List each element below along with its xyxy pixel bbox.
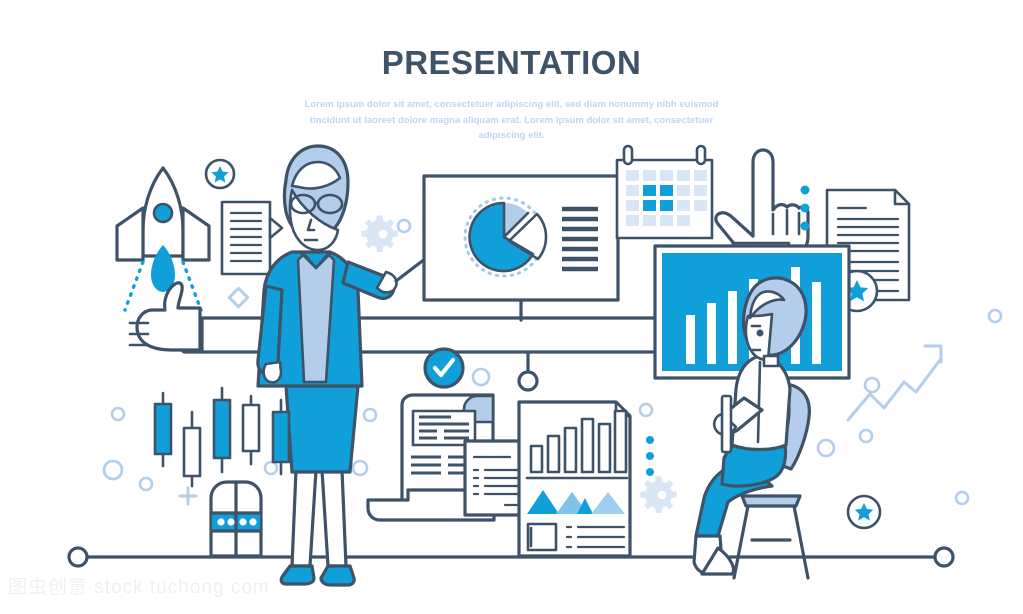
growth-arrow-icon	[848, 346, 941, 420]
rocket-icon	[117, 168, 209, 310]
timeline-bar	[69, 548, 953, 566]
star-badge-bottom-right	[848, 496, 880, 528]
pointing-hand-icon	[716, 150, 810, 260]
candlestick-chart	[155, 388, 289, 486]
server-cabinet-icon	[211, 482, 261, 556]
document-icon-left	[222, 202, 282, 274]
watermark: 图虫创意 stock.tuchong.com	[8, 572, 270, 599]
calendar-icon	[617, 146, 712, 238]
star-badge-top-left	[206, 160, 234, 188]
presentation-board-pie-chart	[424, 176, 618, 320]
checkmark-badge	[425, 349, 463, 387]
dot-list-right	[646, 436, 654, 476]
scene-illustration: .ln{fill:none;stroke:#3e5268;stroke-widt…	[0, 0, 1023, 614]
watermark-en: stock.tuchong.com	[94, 577, 269, 598]
stool	[734, 496, 808, 578]
document-chart-sheet	[519, 402, 630, 556]
watermark-cn: 图虫创意	[8, 577, 88, 598]
thumbs-up-icon	[130, 283, 200, 350]
illustration-canvas: PRESENTATION Lorem ipsum dolor sit amet,…	[0, 0, 1023, 614]
